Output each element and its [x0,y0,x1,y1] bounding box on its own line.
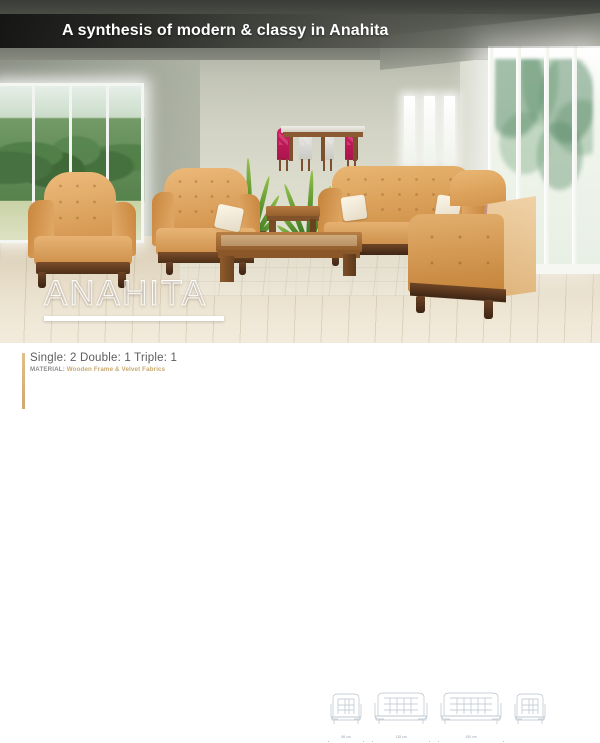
coffee-table-top [216,232,362,252]
armchair-base [36,262,130,274]
material-line: MATERIAL: Wooden Frame & Velvet Fabrics [30,366,177,373]
diagram-single-2: 86 cm [510,690,550,743]
page-title: A synthesis of modern & classy in Anahit… [62,22,389,40]
dimension-triple: 190 cm [436,734,506,743]
brand-logo: ANAHITA [44,276,224,321]
brand-logo-underline [44,316,224,321]
material-value: Wooden Frame & Velvet Fabrics [65,366,165,373]
armchair-lineart-icon [510,690,550,726]
dimension-diagrams: 86 cm [326,691,594,743]
double-sofa-lineart-icon [370,690,432,726]
material-label: MATERIAL: [30,366,65,373]
throw-cushion [214,204,244,233]
armchair-backrest [450,170,506,206]
window-back [404,96,415,164]
armchair-side [408,214,504,292]
footer-info-bar: Single: 2 Double: 1 Triple: 1 MATERIAL: … [0,343,600,419]
dimension-label: 190 cm [436,733,506,741]
coffee-table-leg [343,254,356,276]
dining-table-leg [289,137,293,161]
dimension-label: 86 cm [326,733,366,741]
window-back [444,96,455,164]
triple-sofa-lineart-icon [436,690,506,726]
dining-table-leg [353,137,357,161]
brand-logo-text: ANAHITA [44,276,224,311]
accent-bar [22,353,25,409]
coffee-table [216,232,362,284]
diagram-triple: 190 cm [436,690,506,743]
throw-cushion [340,194,367,221]
header-band: A synthesis of modern & classy in Anahit… [0,14,600,48]
window-mullion [572,46,577,268]
catalog-page: ANAHITA A synthesis of modern & classy i… [0,0,600,419]
footer-text-block: Single: 2 Double: 1 Triple: 1 MATERIAL: … [30,352,177,373]
room-scene-image: ANAHITA A synthesis of modern & classy i… [0,0,600,343]
window-mullion [544,46,549,268]
diagram-single-1: 86 cm [326,690,366,743]
armchair-lineart-icon [326,690,366,726]
coffee-table-apron [218,250,360,258]
piece-counts: Single: 2 Double: 1 Triple: 1 [30,352,177,364]
diagram-double: 135 cm [370,690,432,743]
dining-table-leg [321,137,325,161]
dimension-label: 135 cm [370,733,432,741]
window-back [424,96,435,164]
dimension-double: 135 cm [370,734,432,743]
armchair-left [28,172,138,290]
armchair-right [408,196,538,320]
armchair-backrest [44,172,116,246]
dimension-single-1: 86 cm [326,734,366,743]
